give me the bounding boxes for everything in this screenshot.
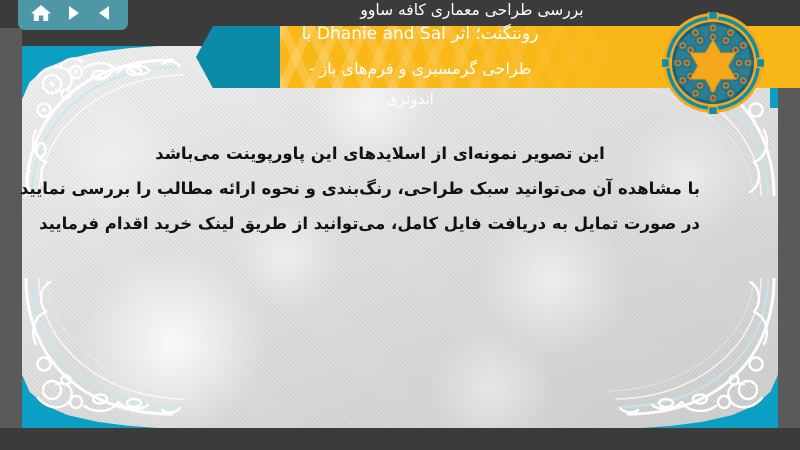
corner-ornament-bottom-right — [588, 278, 778, 428]
corner-ornament-bottom-left — [22, 278, 212, 428]
header-title-line-3: طراحی گرمسیری و فرم‌های باز - — [140, 57, 700, 81]
home-icon — [30, 3, 52, 23]
triangle-left-icon — [95, 3, 115, 23]
slide-viewer-window: بررسی طراحی معماری کافه ساوو رونتگنت؛ اث… — [0, 0, 800, 450]
body-line-2: با مشاهده آن می‌توانید سبک طراحی، رنگ‌بن… — [60, 171, 700, 206]
triangle-right-icon — [63, 3, 83, 23]
header-title-line-4: اندونزی — [245, 88, 575, 110]
body-line-1: این تصویر نمونه‌ای از اسلایدهای این پاور… — [60, 136, 700, 171]
back-button[interactable] — [92, 1, 118, 25]
left-rail — [0, 28, 22, 428]
forward-button[interactable] — [60, 1, 86, 25]
bottom-chrome-bar — [0, 428, 800, 450]
right-rail — [778, 28, 800, 428]
slide-body-text: این تصویر نمونه‌ای از اسلایدهای این پاور… — [60, 136, 700, 241]
body-line-3: در صورت تمایل به دریافت فایل کامل، می‌تو… — [60, 206, 700, 241]
header-title-line-2: رونتگنت؛ اثر Dhanie and Sal با — [140, 22, 700, 46]
navigation-bar — [18, 0, 128, 30]
ornament-medallion — [662, 12, 764, 114]
home-button[interactable] — [28, 1, 54, 25]
